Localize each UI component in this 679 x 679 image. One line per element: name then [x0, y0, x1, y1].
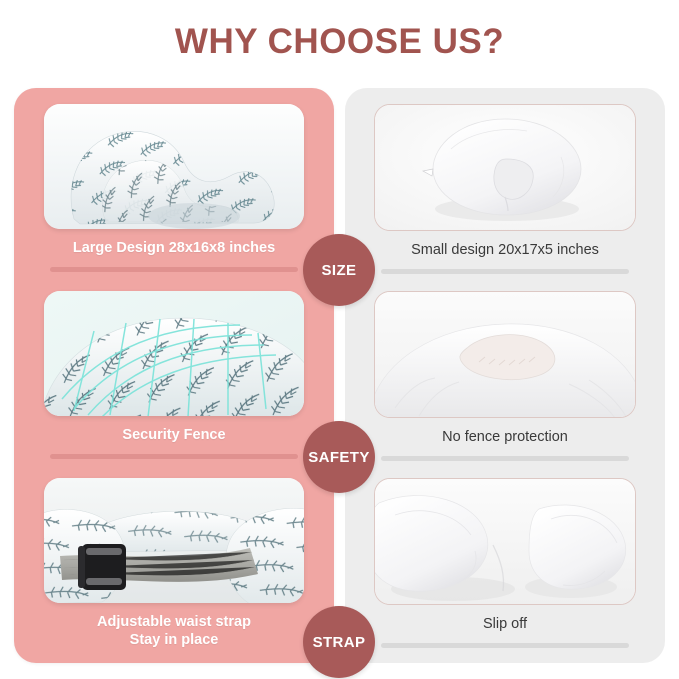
left-image-waist-strap [44, 478, 304, 603]
waist-strap-illustration [44, 478, 304, 603]
right-caption-safety: No fence protection [345, 429, 665, 447]
left-caption-safety: Security Fence [14, 427, 334, 445]
right-divider-1 [381, 269, 629, 274]
white-pillow-slipping-illustration [375, 479, 635, 604]
right-image-slip-off [374, 478, 636, 605]
left-image-security-fence [44, 291, 304, 416]
our-product-panel: Large Design 28x16x8 inches [14, 88, 334, 663]
right-caption-size: Small design 20x17x5 inches [345, 242, 665, 260]
page-title: WHY CHOOSE US? [175, 22, 504, 61]
left-divider-2 [50, 454, 298, 459]
left-row-size: Large Design 28x16x8 inches [14, 104, 334, 291]
left-caption-strap-line2: Stay in place [14, 632, 334, 650]
right-divider-3 [381, 643, 629, 648]
badge-strap[interactable]: STRAP [303, 606, 375, 678]
badge-size[interactable]: SIZE [303, 234, 375, 306]
left-caption-strap: Adjustable waist strap Stay in place [14, 614, 334, 649]
right-row-size: Small design 20x17x5 inches [345, 104, 665, 291]
left-row-safety: Security Fence [14, 291, 334, 478]
page-title-bar: WHY CHOOSE US? [0, 22, 679, 62]
right-image-small-pillow [374, 104, 636, 231]
left-row-strap: Adjustable waist strap Stay in place [14, 478, 334, 663]
white-pillow-no-fence-illustration [375, 292, 635, 417]
left-caption-size: Large Design 28x16x8 inches [14, 240, 334, 258]
comparison-panels: Large Design 28x16x8 inches [0, 88, 679, 663]
left-image-large-pillow [44, 104, 304, 229]
right-divider-2 [381, 456, 629, 461]
leaf-pillow-illustration [44, 104, 304, 229]
badge-safety[interactable]: SAFETY [303, 421, 375, 493]
right-caption-strap: Slip off [345, 616, 665, 634]
competitor-panel: Small design 20x17x5 inches [345, 88, 665, 663]
white-donut-pillow-illustration [375, 105, 635, 230]
right-row-strap: Slip off [345, 478, 665, 663]
left-caption-strap-line1: Adjustable waist strap [14, 614, 334, 632]
left-divider-1 [50, 267, 298, 272]
right-image-no-fence [374, 291, 636, 418]
right-row-safety: No fence protection [345, 291, 665, 478]
security-fence-illustration [44, 291, 304, 416]
